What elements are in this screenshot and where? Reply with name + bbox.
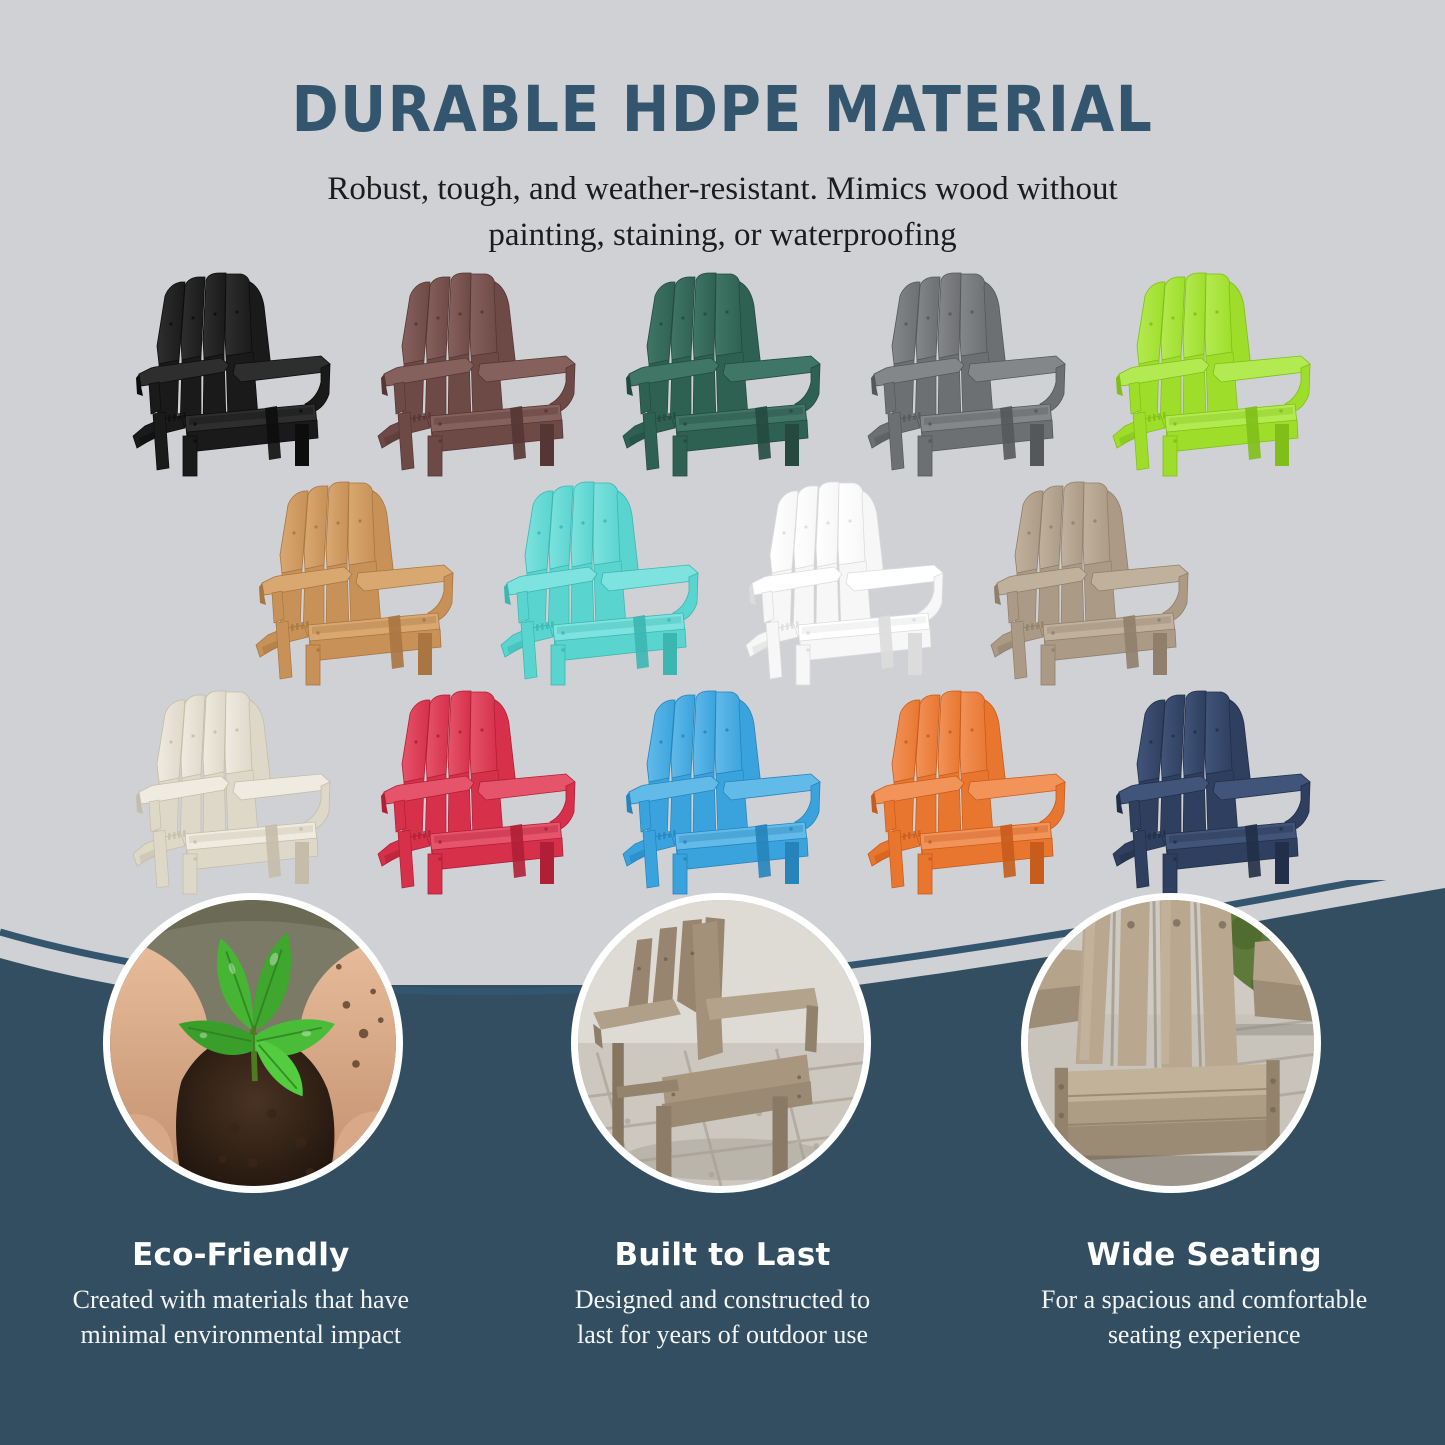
page-subtitle: Robust, tough, and weather-resistant. Mi… xyxy=(218,167,1228,258)
seat-closeup-photo-icon xyxy=(1028,900,1314,1186)
feature-captions: Eco-Friendly Created with materials that… xyxy=(0,1237,1445,1353)
feature-wide-seating: Wide Seating For a spacious and comforta… xyxy=(963,1237,1445,1353)
header: DURABLE HDPE MATERIAL Robust, tough, and… xyxy=(0,0,1445,258)
chair-illustration xyxy=(125,686,340,899)
feature-title: Wide Seating xyxy=(981,1237,1427,1273)
chair-row-2 xyxy=(0,477,1445,690)
chair-illustration xyxy=(615,686,830,899)
eco-photo-icon xyxy=(110,900,396,1186)
chair-swatch-sky-blue[interactable] xyxy=(615,686,830,899)
feature-desc: Designed and constructed to last for yea… xyxy=(500,1283,946,1353)
chair-swatch-teak-tan[interactable] xyxy=(248,477,463,690)
chair-illustration xyxy=(1105,268,1320,481)
page-title: DURABLE HDPE MATERIAL xyxy=(0,0,1445,141)
chair-swatch-brown[interactable] xyxy=(370,268,585,481)
chair-swatch-navy[interactable] xyxy=(1105,686,1320,899)
chair-swatch-turquoise[interactable] xyxy=(493,477,708,690)
feature-desc-line-1: Created with materials that have xyxy=(73,1285,409,1314)
subtitle-line-2: painting, staining, or waterproofing xyxy=(218,213,1228,259)
chair-row-3 xyxy=(0,686,1445,899)
chair-illustration xyxy=(860,268,1075,481)
chair-illustration xyxy=(370,686,585,899)
feature-desc-line-2: last for years of outdoor use xyxy=(577,1320,868,1349)
seat-closeup-photo-circle xyxy=(1021,893,1321,1193)
feature-desc-line-2: seating experience xyxy=(1108,1320,1301,1349)
chair-swatch-red[interactable] xyxy=(370,686,585,899)
chair-patio-photo-circle xyxy=(571,893,871,1193)
feature-desc: Created with materials that have minimal… xyxy=(18,1283,464,1353)
feature-circles xyxy=(0,893,1445,1213)
chair-swatch-weathered-wood[interactable] xyxy=(983,477,1198,690)
chair-swatch-gray[interactable] xyxy=(860,268,1075,481)
chair-illustration xyxy=(248,477,463,690)
chair-illustration xyxy=(493,477,708,690)
chair-swatch-orange[interactable] xyxy=(860,686,1075,899)
chair-row-1 xyxy=(0,268,1445,481)
feature-eco-friendly: Eco-Friendly Created with materials that… xyxy=(0,1237,482,1353)
chair-illustration xyxy=(1105,686,1320,899)
chair-swatch-dark-green[interactable] xyxy=(615,268,830,481)
chair-swatch-white[interactable] xyxy=(738,477,953,690)
chair-swatch-black[interactable] xyxy=(125,268,340,481)
chair-swatch-lime-green[interactable] xyxy=(1105,268,1320,481)
eco-photo-circle xyxy=(103,893,403,1193)
feature-desc-line-1: For a spacious and comfortable xyxy=(1041,1285,1367,1314)
chair-illustration xyxy=(983,477,1198,690)
chair-swatch-ivory[interactable] xyxy=(125,686,340,899)
chair-patio-photo-icon xyxy=(578,900,864,1186)
chair-illustration xyxy=(125,268,340,481)
chair-color-grid xyxy=(0,268,1445,899)
infographic-canvas: DURABLE HDPE MATERIAL Robust, tough, and… xyxy=(0,0,1445,1445)
feature-built-to-last: Built to Last Designed and constructed t… xyxy=(482,1237,964,1353)
chair-illustration xyxy=(860,686,1075,899)
chair-illustration xyxy=(615,268,830,481)
chair-illustration xyxy=(370,268,585,481)
subtitle-line-1: Robust, tough, and weather-resistant. Mi… xyxy=(218,167,1228,213)
feature-title: Built to Last xyxy=(500,1237,946,1273)
feature-desc-line-2: minimal environmental impact xyxy=(81,1320,402,1349)
feature-desc: For a spacious and comfortable seating e… xyxy=(981,1283,1427,1353)
feature-desc-line-1: Designed and constructed to xyxy=(575,1285,870,1314)
feature-title: Eco-Friendly xyxy=(18,1237,464,1273)
chair-illustration xyxy=(738,477,953,690)
